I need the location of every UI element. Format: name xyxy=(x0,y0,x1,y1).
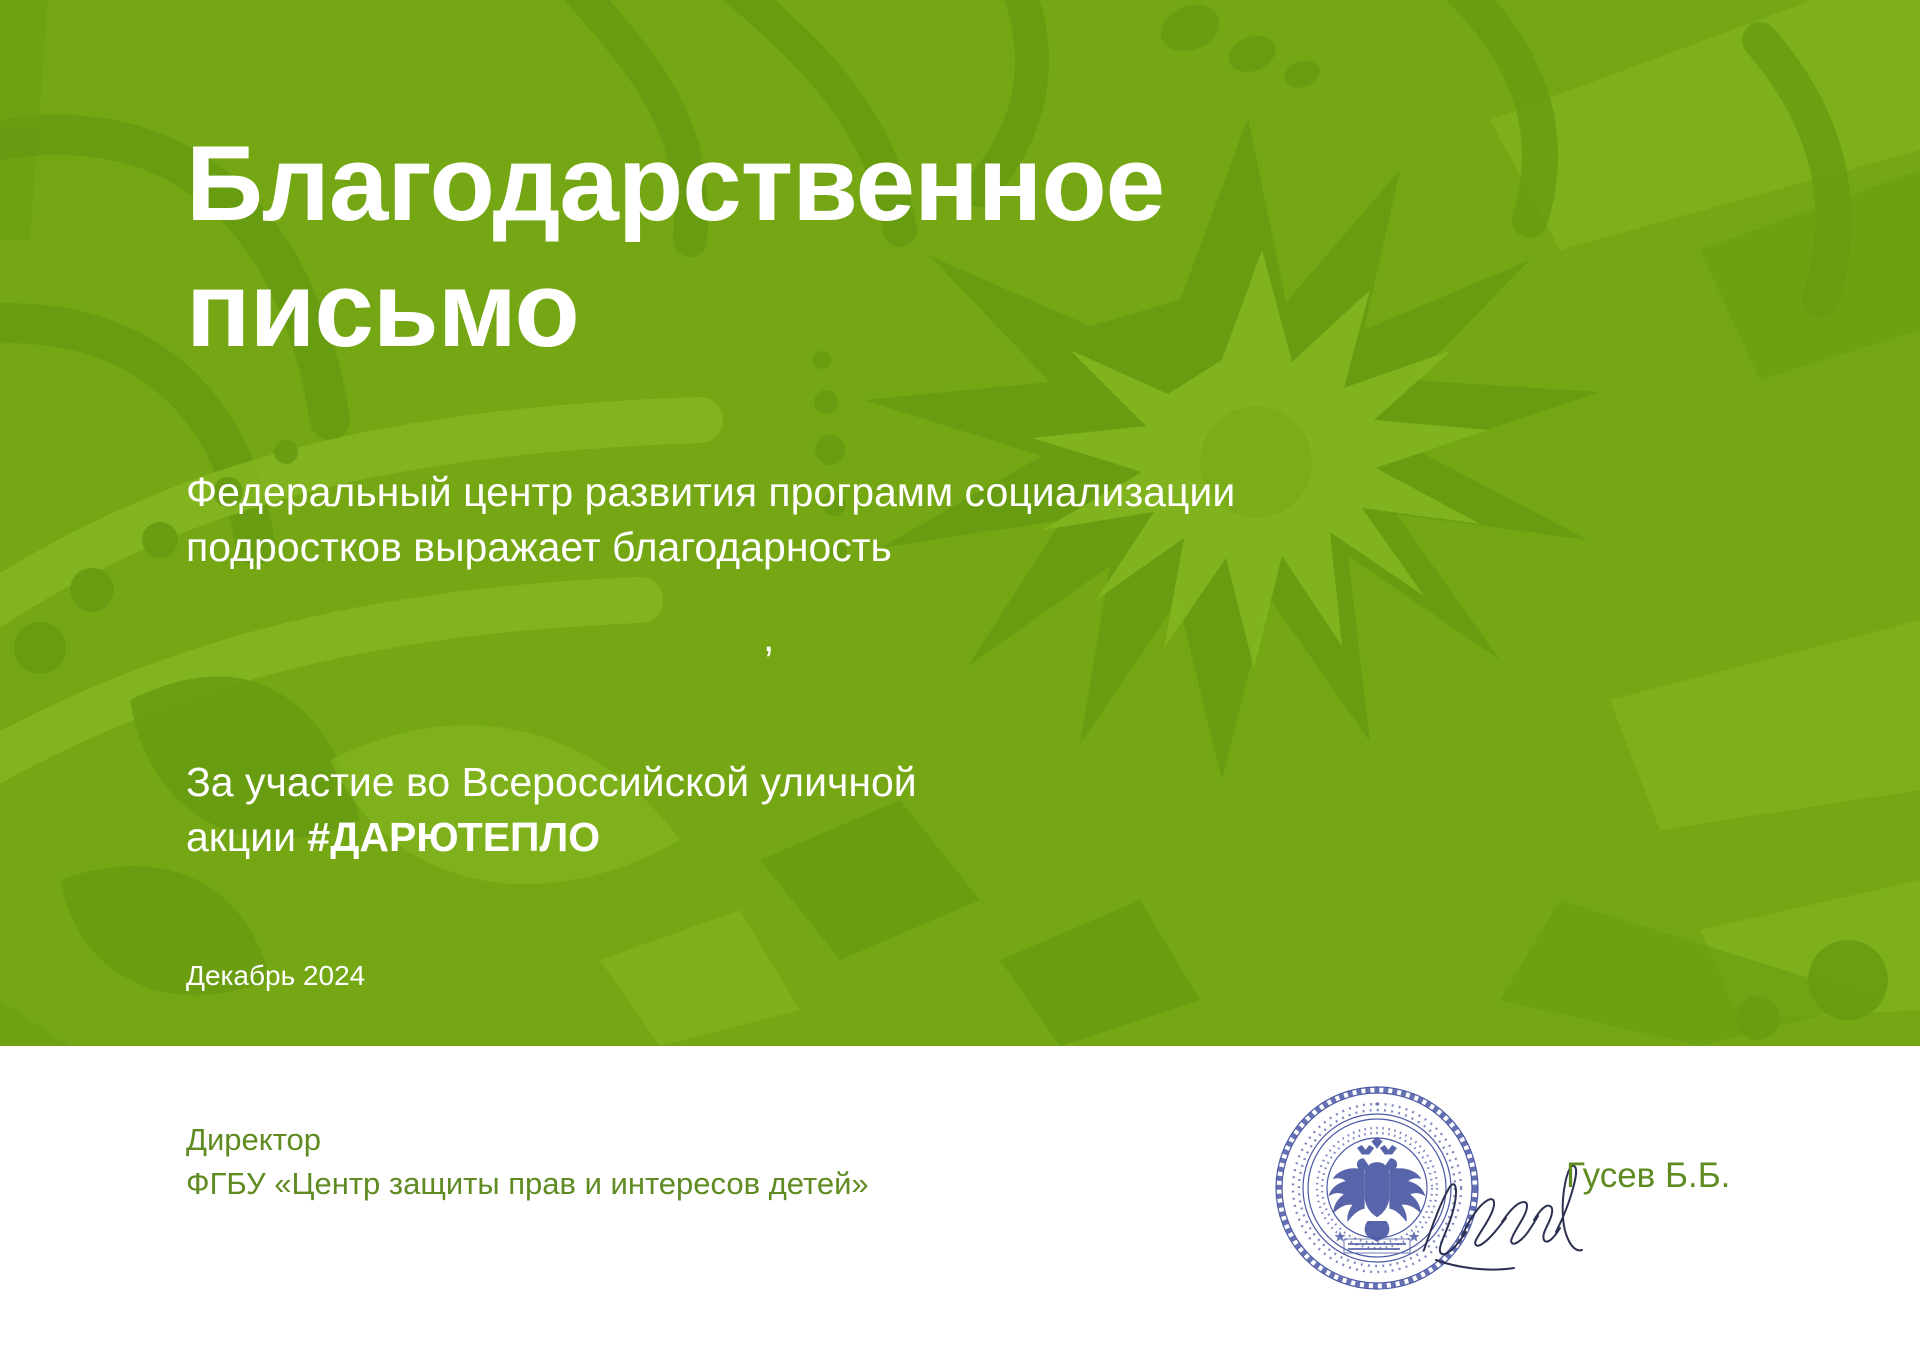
recipient-block: , xyxy=(186,610,1636,710)
signer-role-line-1: Директор xyxy=(186,1118,1086,1162)
title-line-2: письмо xyxy=(186,246,1586,372)
certificate-page: Благодарственное письмо Федеральный цент… xyxy=(0,0,1920,1357)
title-line-1: Благодарственное xyxy=(186,120,1586,246)
lead-line-2: подростков выражает благодарность xyxy=(186,520,1636,575)
campaign-hashtag: #ДАРЮТЕПЛО xyxy=(307,814,600,860)
certificate-title: Благодарственное письмо xyxy=(186,120,1586,373)
signer-role-line-2: ФГБУ «Центр защиты прав и интересов дете… xyxy=(186,1162,1086,1206)
reason-line-2: акции #ДАРЮТЕПЛО xyxy=(186,810,1636,865)
signer-name: Гусев Б.Б. xyxy=(1566,1156,1730,1196)
certificate-footer: Директор ФГБУ «Центр защиты прав и интер… xyxy=(0,1046,1920,1357)
reason-second-prefix: акции xyxy=(186,814,307,860)
awarding-organization-text: Федеральный центр развития программ соци… xyxy=(186,465,1636,576)
signer-role-block: Директор ФГБУ «Центр защиты прав и интер… xyxy=(186,1118,1086,1206)
recipient-comma: , xyxy=(763,610,774,665)
reason-line-1: За участие во Всероссийской уличной xyxy=(186,755,1636,810)
issue-date: Декабрь 2024 xyxy=(186,960,365,992)
lead-line-1: Федеральный центр развития программ соци… xyxy=(186,465,1636,520)
hero-green-band: Благодарственное письмо Федеральный цент… xyxy=(0,0,1920,1046)
award-reason-text: За участие во Всероссийской уличной акци… xyxy=(186,755,1636,866)
